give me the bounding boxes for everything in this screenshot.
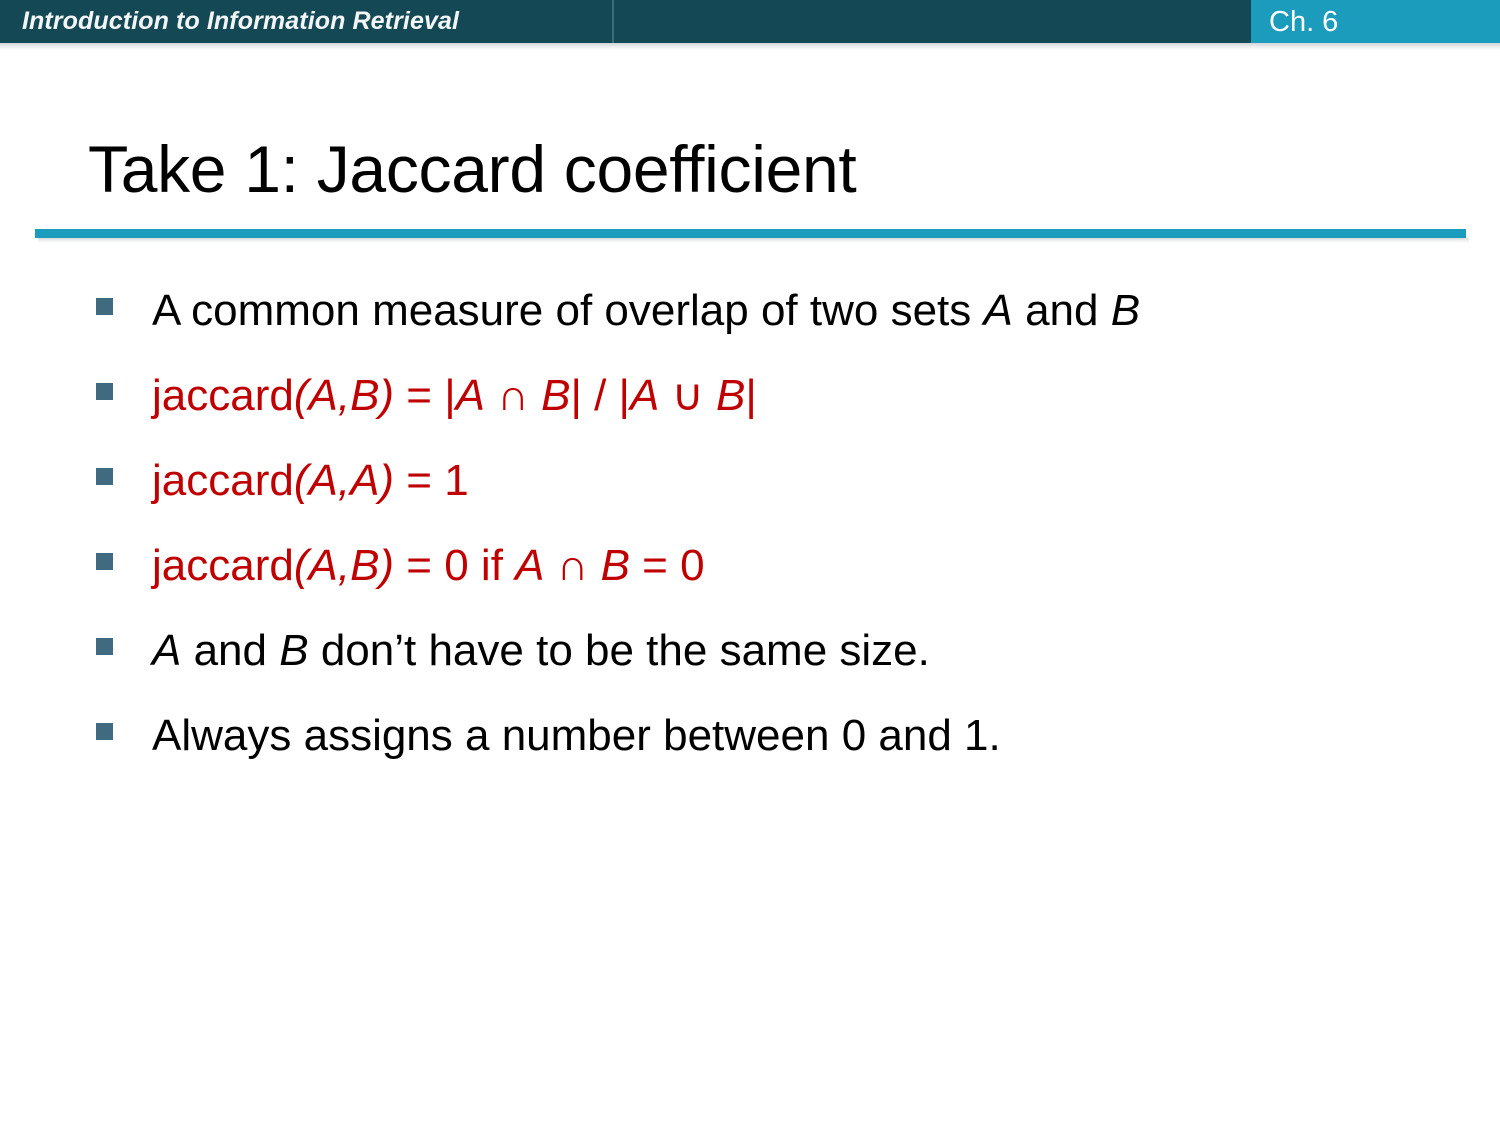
bullet-list: A common measure of overlap of two sets … [96,280,1456,790]
bullet-item: jaccard(A,B) = 0 if A ∩ B = 0 [96,535,1456,620]
slide-header-bar: Introduction to Information Retrieval Ch… [0,0,1500,43]
bullet-item: Always assigns a number between 0 and 1. [96,705,1456,790]
bullet-item: A common measure of overlap of two sets … [96,280,1456,365]
bullet-text: A common measure of overlap of two sets … [152,280,1140,342]
bullet-square-icon [96,638,113,655]
bullet-text: Always assigns a number between 0 and 1. [152,705,1001,767]
bullet-text: A and B don’t have to be the same size. [152,620,930,682]
header-divider [612,0,614,43]
page-title: Take 1: Jaccard coefficient [88,131,856,207]
course-title: Introduction to Information Retrieval [22,0,459,43]
title-underline-rule [35,229,1466,238]
bullet-square-icon [96,298,113,315]
bullet-item: A and B don’t have to be the same size. [96,620,1456,705]
header-shadow [0,43,1500,50]
bullet-text: jaccard(A,B) = |A ∩ B| / |A ∪ B| [152,365,757,427]
bullet-item: jaccard(A,A) = 1 [96,450,1456,535]
bullet-square-icon [96,468,113,485]
chapter-badge: Ch. 6 [1251,0,1500,43]
bullet-text: jaccard(A,B) = 0 if A ∩ B = 0 [152,535,705,597]
chapter-badge-label: Ch. 6 [1269,0,1338,43]
bullet-text: jaccard(A,A) = 1 [152,450,469,512]
title-underline-shadow [38,238,1469,243]
bullet-square-icon [96,383,113,400]
bullet-item: jaccard(A,B) = |A ∩ B| / |A ∪ B| [96,365,1456,450]
bullet-square-icon [96,723,113,740]
bullet-square-icon [96,553,113,570]
